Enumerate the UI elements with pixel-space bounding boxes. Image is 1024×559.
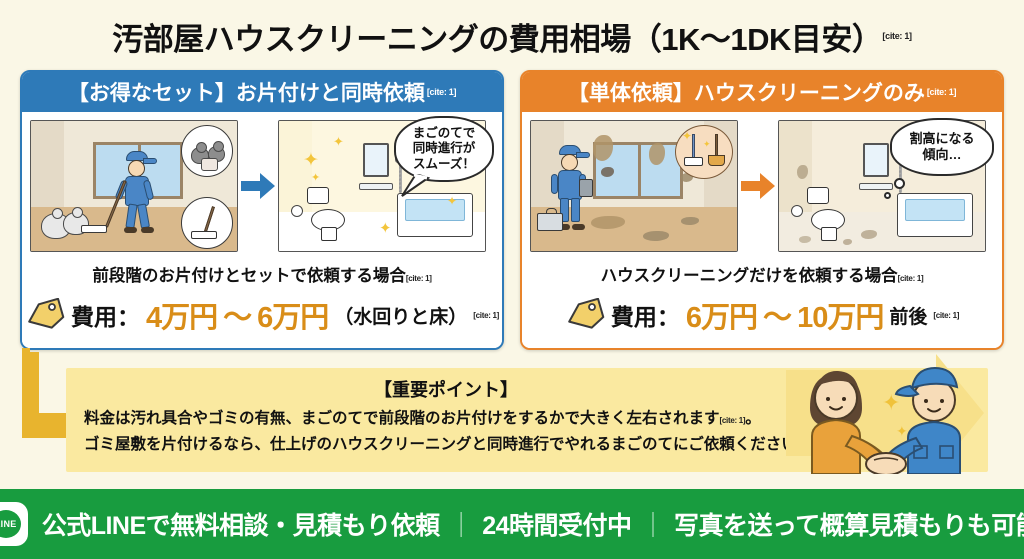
speech-bubble-line: スムーズ！	[413, 157, 475, 173]
panel-set-header: 【お得なセット】お片付けと同時依頼 [cite: 1]	[22, 72, 502, 112]
sparkle-icon: ✦	[447, 195, 457, 207]
panel-single-header: 【単体依頼】ハウスクリーニングのみ [cite: 1]	[522, 72, 1002, 112]
infographic-root: 汚部屋ハウスクリーニングの費用相場（1K〜1DK目安） [cite: 1] 【お…	[0, 0, 1024, 559]
callout-cleaning-tools: ✦ ✦	[675, 125, 733, 179]
callout-broom	[181, 197, 233, 249]
clipboard-icon	[579, 179, 593, 197]
panel-set-header-citation: [cite: 1]	[427, 87, 456, 97]
speech-bubble-set: まごのてで 同時進行が スムーズ！	[394, 116, 494, 182]
line-logo-icon: LINE	[0, 502, 28, 546]
line-logo-text: LINE	[0, 510, 21, 538]
panel-single-request: 【単体依頼】ハウスクリーニングのみ [cite: 1]	[520, 70, 1004, 350]
panel-set-caption-citation: [cite: 1]	[406, 274, 432, 283]
svg-text:✦: ✦	[896, 423, 908, 439]
panel-single-price-from: 6万円	[686, 294, 757, 336]
page-title-text: 汚部屋ハウスクリーニングの費用相場（1K〜1DK目安）	[112, 14, 882, 59]
shelf-icon	[359, 183, 393, 190]
speech-bubble-line: 傾向…	[922, 147, 961, 163]
transition-arrow-blue	[238, 120, 278, 252]
bathtub-icon	[397, 193, 473, 237]
line-cta-separator: ｜	[449, 512, 474, 540]
speech-bubble-single: 割高になる 傾向…	[890, 118, 994, 176]
toilet-paper-icon	[791, 205, 803, 217]
panel-set-price-suffix: （水回りと床）	[334, 302, 467, 329]
panel-set-price-from: 4万円	[146, 294, 217, 336]
scene-worker-cleaning	[30, 120, 238, 252]
mirror-icon	[363, 143, 389, 177]
speech-bubble-tail	[400, 174, 430, 198]
line-cta-separator: ｜	[641, 512, 666, 540]
panel-single-price-tilde: 〜	[763, 294, 791, 336]
panel-set-price-tilde: 〜	[223, 294, 251, 336]
toolbox-icon	[537, 213, 563, 231]
worker-figure	[117, 151, 167, 243]
handshake-illustration: ✦ ✦	[786, 352, 986, 474]
title-citation: [cite: 1]	[882, 31, 911, 41]
panel-single-price-to: 10万円	[797, 294, 883, 336]
speech-bubble-line: まごのてで	[413, 126, 476, 142]
line-cta-segment-1: 公式LINEで無料相談・見積もり依頼	[42, 512, 440, 540]
price-tag-icon	[565, 298, 605, 332]
callout-trash-bags	[181, 125, 233, 177]
panel-single-price-citation: [cite: 1]	[933, 311, 959, 320]
important-points-line-1-citation: [cite: 1]	[720, 416, 746, 425]
transition-arrow-orange	[738, 120, 778, 252]
speech-bubble-line: 割高になる	[909, 131, 974, 147]
line-cta-segment-2: 24時間受付中	[482, 512, 631, 540]
arrow-right-icon	[741, 172, 775, 200]
panel-single-header-label: 【単体依頼】ハウスクリーニングのみ	[568, 77, 925, 107]
important-points-line-1-text: 料金は汚れ具合やゴミの有無、まごのてで前段階のお片付けをするかで大きく左右されま…	[84, 410, 720, 427]
mop-head-icon	[81, 225, 107, 233]
arrow-right-icon	[241, 172, 275, 200]
speech-bubble-dot	[884, 192, 891, 199]
sparkle-icon: ✦	[303, 151, 319, 170]
speech-bubble-line: 同時進行が	[413, 141, 476, 157]
line-cta-text: 公式LINEで無料相談・見積もり依頼｜24時間受付中｜写真を送って概算見積もりも…	[42, 506, 1024, 542]
panel-set-price-citation: [cite: 1]	[473, 311, 499, 320]
speech-bubble-dot	[894, 178, 905, 189]
panel-set-request: 【お得なセット】お片付けと同時依頼 [cite: 1]	[20, 70, 504, 350]
important-points-line-2-text: ゴミ屋敷を片付けるなら、仕上げのハウスクリーニングと同時進行でやれるまごのてにご…	[84, 436, 797, 453]
toilet-tank-icon	[307, 187, 329, 204]
toilet-paper-icon	[291, 205, 303, 217]
sparkle-icon: ✦	[311, 173, 320, 184]
panel-set-body: ✦ ✦ ✦ ✦ ✦ ✦ まごのてで 同時進行が スムーズ！ 前段階	[22, 112, 502, 350]
panel-set-caption-text: 前段階のお片付けとセットで依頼する場合	[92, 267, 406, 285]
panel-single-price-row: 費用： 6万円 〜 10万円 前後 [cite: 1]	[522, 294, 1002, 336]
panel-single-price-label: 費用：	[611, 298, 680, 332]
bathtub-icon	[897, 193, 973, 237]
panel-single-caption: ハウスクリーニングだけを依頼する場合[cite: 1]	[522, 262, 1002, 286]
svg-text:✦: ✦	[882, 390, 900, 415]
toilet-base-icon	[821, 227, 837, 241]
panel-set-caption: 前段階のお片付けとセットで依頼する場合[cite: 1]	[22, 262, 502, 286]
panel-set-price-row: 費用： 4万円 〜 6万円 （水回りと床） [cite: 1]	[22, 294, 502, 336]
sparkle-icon: ✦	[333, 135, 344, 148]
panel-single-body: ✦ ✦	[522, 112, 1002, 350]
important-points-title: 【重要ポイント】	[66, 376, 826, 402]
line-cta-bar[interactable]: LINE 公式LINEで無料相談・見積もり依頼｜24時間受付中｜写真を送って概算…	[0, 489, 1024, 559]
important-points-line-1: 料金は汚れ具合やゴミの有無、まごのてで前段階のお片付けをするかで大きく左右されま…	[84, 406, 761, 428]
shelf-icon	[859, 183, 893, 190]
panel-single-caption-citation: [cite: 1]	[898, 274, 924, 283]
panel-set-price-label: 費用：	[71, 298, 140, 332]
panel-set-price-to: 6万円	[257, 294, 328, 336]
mirror-icon	[863, 143, 889, 177]
toilet-base-icon	[321, 227, 337, 241]
panel-single-caption-text: ハウスクリーニングだけを依頼する場合	[601, 267, 898, 285]
important-points-line-2: ゴミ屋敷を片付けるなら、仕上げのハウスクリーニングと同時進行でやれるまごのてにご…	[84, 432, 838, 454]
panel-set-header-label: 【お得なセット】お片付けと同時依頼	[68, 77, 425, 107]
price-tag-icon	[25, 298, 65, 332]
scene-dirty-room: ✦ ✦	[530, 120, 738, 252]
toilet-tank-icon	[807, 187, 829, 204]
panel-single-header-citation: [cite: 1]	[927, 87, 956, 97]
sparkle-icon: ✦	[379, 221, 392, 236]
page-title: 汚部屋ハウスクリーニングの費用相場（1K〜1DK目安） [cite: 1]	[0, 8, 1024, 64]
important-points-line-1-tail: 。	[745, 410, 761, 427]
line-cta-segment-3: 写真を送って概算見積もりも可能	[674, 512, 1024, 540]
bathtub-water	[905, 199, 965, 221]
panel-single-price-suffix: 前後	[889, 302, 927, 329]
